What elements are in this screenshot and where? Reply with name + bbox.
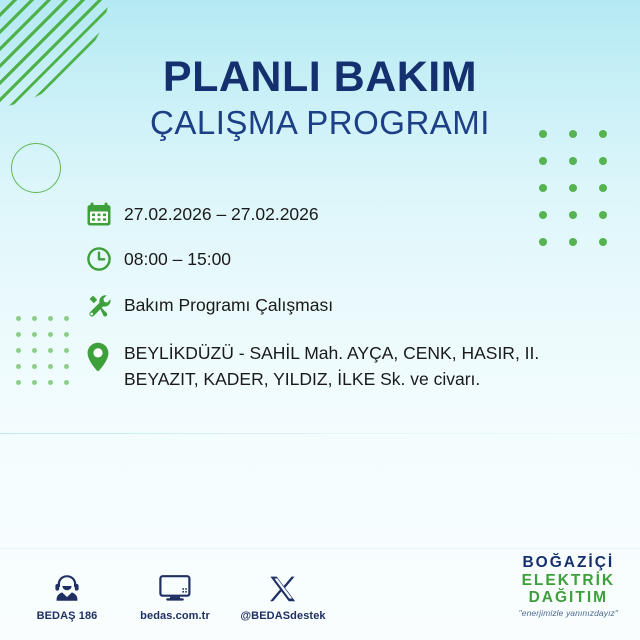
contact-list: BEDAŞ 186 — [24, 568, 326, 622]
dot — [64, 332, 69, 337]
dot — [64, 348, 69, 353]
footer-divider — [0, 548, 640, 549]
info-row-work-type: Bakım Programı Çalışması — [86, 291, 586, 320]
contact-x-label: @BEDASdestek — [240, 610, 326, 622]
info-row-date: 27.02.2026 – 27.02.2026 — [86, 200, 586, 227]
tools-icon — [86, 291, 124, 320]
dot — [16, 332, 21, 337]
dot — [599, 157, 607, 165]
dot — [32, 348, 37, 353]
dot — [64, 364, 69, 369]
info-list: 27.02.2026 – 27.02.2026 08:00 – 15:00 — [86, 200, 586, 393]
planned-maintenance-poster: PLANLI BAKIM ÇALIŞMA PROGRAMI — [0, 0, 640, 640]
poster-header: PLANLI BAKIM ÇALIŞMA PROGRAMI — [0, 55, 640, 141]
dot — [32, 332, 37, 337]
dot — [48, 380, 53, 385]
dot — [16, 316, 21, 321]
info-row-location: BEYLİKDÜZÜ - SAHİL Mah. AYÇA, CENK, HASI… — [86, 338, 586, 393]
dot — [48, 348, 53, 353]
dot — [599, 184, 607, 192]
location-pin-icon — [86, 338, 124, 372]
dot — [32, 380, 37, 385]
page-subtitle: ÇALIŞMA PROGRAMI — [0, 105, 640, 141]
time-range-value: 08:00 – 15:00 — [124, 245, 231, 272]
section-divider — [0, 433, 640, 434]
dot — [599, 211, 607, 219]
x-twitter-icon — [240, 568, 326, 604]
dot — [599, 238, 607, 246]
dot — [16, 348, 21, 353]
contact-phone-label: BEDAŞ 186 — [24, 610, 110, 622]
dot — [48, 364, 53, 369]
dot — [64, 380, 69, 385]
info-row-time: 08:00 – 15:00 — [86, 245, 586, 272]
dot — [16, 380, 21, 385]
date-range-value: 27.02.2026 – 27.02.2026 — [124, 200, 319, 227]
calendar-icon — [86, 200, 124, 227]
dot — [569, 184, 577, 192]
poster-footer: BEDAŞ 186 — [0, 550, 640, 626]
headset-support-icon — [24, 568, 110, 604]
dot — [569, 157, 577, 165]
dot — [48, 316, 53, 321]
dot — [16, 364, 21, 369]
location-value: BEYLİKDÜZÜ - SAHİL Mah. AYÇA, CENK, HASI… — [124, 338, 586, 393]
work-type-value: Bakım Programı Çalışması — [124, 291, 333, 318]
contact-x-account[interactable]: @BEDASdestek — [240, 568, 326, 622]
dot — [539, 184, 547, 192]
contact-website-label: bedas.com.tr — [132, 610, 218, 622]
brand-line-elektrik: ELEKTRİK — [519, 573, 618, 589]
contact-website[interactable]: bedas.com.tr — [132, 568, 218, 622]
circle-outline-decoration — [11, 143, 61, 193]
dot — [32, 316, 37, 321]
bedas-logo: BOĞAZİÇİ ELEKTRİK DAĞITIM "enerjimizle y… — [519, 555, 618, 618]
contact-phone[interactable]: BEDAŞ 186 — [24, 568, 110, 622]
clock-icon — [86, 245, 124, 272]
brand-line-dagitim: DAĞITIM — [519, 590, 618, 606]
dot — [539, 157, 547, 165]
monitor-website-icon — [132, 568, 218, 604]
dot — [32, 364, 37, 369]
dot-grid-left-decoration — [10, 310, 74, 390]
brand-line-bogazici: BOĞAZİÇİ — [519, 555, 618, 571]
page-title: PLANLI BAKIM — [0, 55, 640, 100]
dot — [48, 332, 53, 337]
dot — [64, 316, 69, 321]
brand-tagline: "enerjimizle yanınızdayız" — [519, 609, 618, 618]
